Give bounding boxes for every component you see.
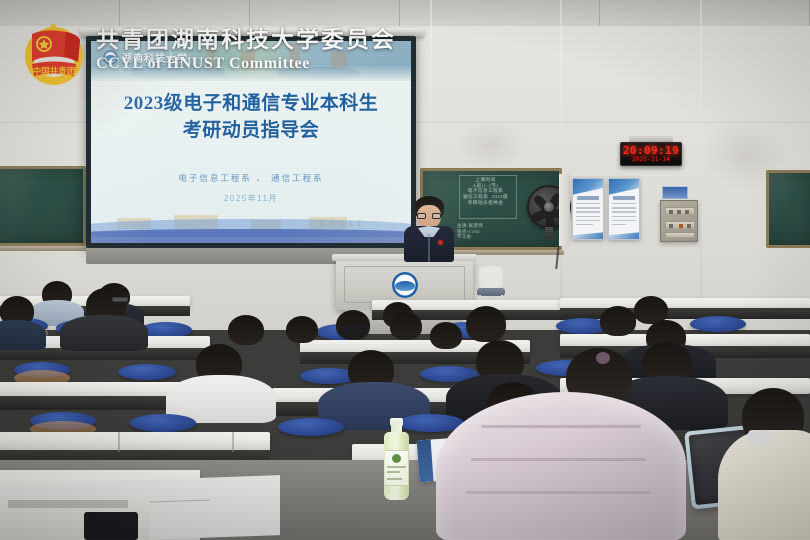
pink-puffer-jacket (436, 392, 686, 540)
slide-title: 2023级电子和通信专业本科生 考研动员指导会 (91, 91, 411, 145)
slide-footer: HNUST (91, 209, 411, 243)
seat-cushion[interactable] (130, 414, 196, 432)
panel-blue-label (662, 186, 688, 199)
seat-cushion[interactable] (118, 364, 176, 380)
blackboard-left (0, 166, 86, 246)
university-round-logo-icon (392, 272, 418, 298)
audience-head (286, 316, 318, 343)
led-wall-clock: 20:09:19 2025-11-14 (620, 142, 682, 166)
audience-head (390, 312, 422, 340)
presenter-zipper (428, 234, 430, 262)
slide-university-logo: 湖南科技大学 (103, 50, 188, 65)
presentation-slide: 湖南科技大学 2023级电子和通信专业本科生 考研动员指导会 电子信息工程系 、… (91, 41, 411, 243)
audience-head (228, 315, 264, 345)
hair-tie (596, 352, 610, 364)
framed-notice-left (572, 178, 604, 240)
wall-switch-panel[interactable] (660, 200, 698, 242)
face-mask-icon (340, 324, 366, 339)
audience-head (600, 306, 636, 336)
university-logo-icon (103, 50, 118, 65)
chalk-text-center-lower: 主讲:张老师 地点:C202 学工办 (457, 223, 483, 240)
face-mask-icon (748, 430, 770, 446)
chalk-ledge-left (0, 246, 88, 251)
slide-subtitle: 电子信息工程系 、 通信工程系 (91, 172, 411, 184)
seat-cushion[interactable] (690, 316, 746, 332)
slide-title-line-2: 考研动员指导会 (91, 118, 411, 145)
leaf-icon (392, 454, 401, 463)
clock-date: 2025-11-14 (621, 156, 681, 163)
chalk-text-center: 上课时间 A班(1-2节) 电子信息工程系 通信工程系 2023级 考研动员指导… (463, 177, 508, 206)
projector-screen: 湖南科技大学 2023级电子和通信专业本科生 考研动员指导会 电子信息工程系 、… (86, 36, 416, 248)
presenter-person (398, 196, 460, 262)
audience-shoulders (60, 315, 148, 351)
blackboard-right-edge (766, 170, 810, 248)
audience-head (466, 306, 506, 342)
desk-row (0, 432, 270, 452)
framed-notice-right (608, 178, 640, 240)
ceiling-strip (0, 0, 810, 26)
slide-footer-watermark: HNUST (319, 219, 365, 229)
paper-edge (8, 500, 128, 508)
dark-object-foreground (84, 512, 138, 540)
notebook-spine (417, 440, 434, 483)
green-tea-bottle[interactable] (384, 418, 409, 500)
chalk-box (459, 175, 517, 219)
wall-mark-a (455, 120, 525, 170)
audience-shoulders (0, 320, 46, 350)
glasses-icon (112, 297, 128, 302)
communist-youth-league-emblem: 中国共青团 (16, 12, 92, 88)
slide-title-line-1: 2023级电子和通信专业本科生 (91, 91, 411, 118)
slide-date: 2025年11月 (91, 193, 411, 204)
seat-cushion[interactable] (278, 418, 344, 436)
fan-mount (545, 227, 553, 239)
glasses-icon (417, 213, 441, 219)
slide-university-logo-text: 湖南科技大学 (122, 50, 188, 65)
cream-jacket (718, 430, 810, 540)
lecture-hall-photo: 上课时间 A班(1-2节) 电子信息工程系 通信工程系 2023级 考研动员指导… (0, 0, 810, 540)
wall-seam-2 (560, 0, 562, 330)
wall-pilaster (559, 174, 570, 246)
audience-head (430, 322, 462, 349)
desk-front (560, 308, 810, 319)
presenter-lapel-badge (438, 240, 443, 245)
svg-text:中国共青团: 中国共青团 (33, 66, 76, 76)
